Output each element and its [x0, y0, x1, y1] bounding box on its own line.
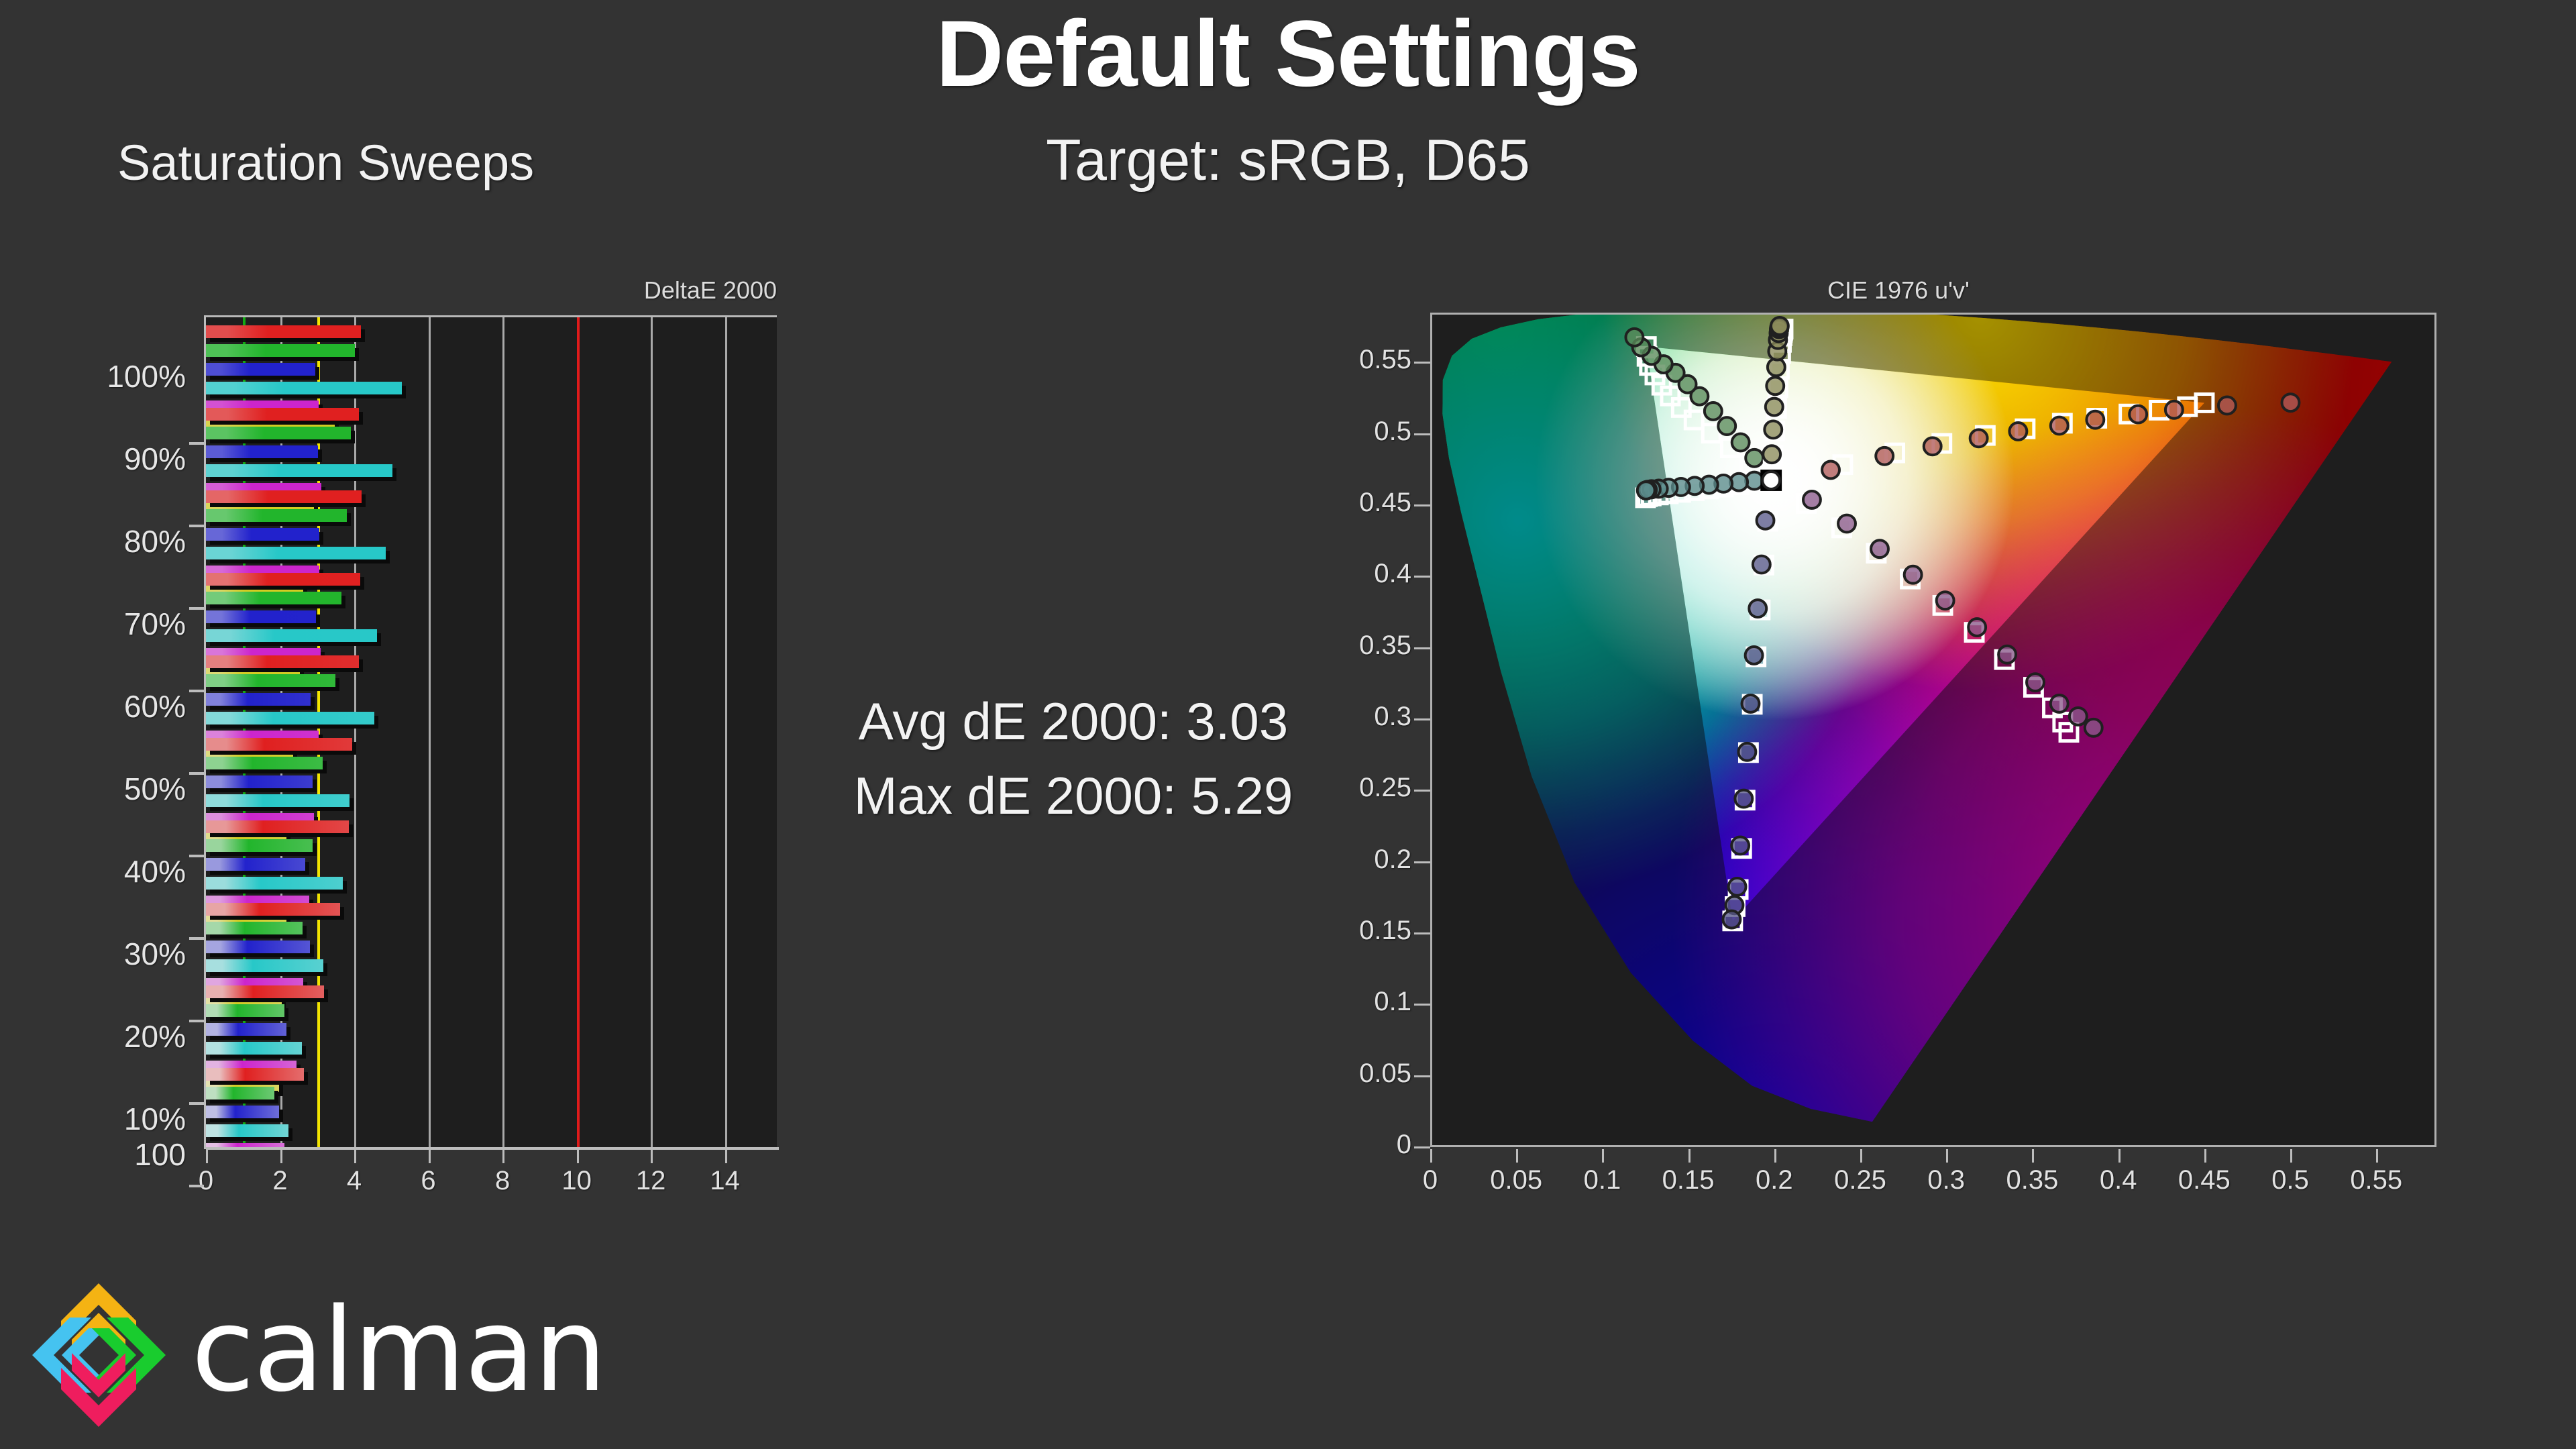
- deltae-bar: [206, 490, 362, 503]
- deltae-bar: [206, 464, 392, 477]
- cie-x-tick: [2118, 1149, 2121, 1163]
- deltae-x-tick-label: 14: [685, 1166, 765, 1196]
- deltae-x-tick: [429, 1150, 431, 1163]
- cie-y-tick-label: 0.4: [1355, 559, 1411, 589]
- deltae-bar: [206, 674, 335, 687]
- deltae-bar: [206, 509, 347, 522]
- deltae-y-tick-label-text: 90%: [0, 441, 186, 477]
- cie-measured-marker: [1757, 512, 1774, 529]
- deltae-x-tick: [725, 1150, 727, 1163]
- deltae-bar: [206, 959, 323, 972]
- cie-measured-marker: [1924, 437, 1941, 455]
- deltae-bar: [206, 858, 305, 871]
- cie-measured-marker: [1625, 329, 1643, 346]
- calman-logo: calman: [27, 1278, 684, 1432]
- cie-measured-marker: [1904, 566, 1922, 584]
- deltae-gridline: [354, 317, 356, 1147]
- deltae-bar: [206, 757, 323, 769]
- cie-y-tick-label: 0.15: [1355, 916, 1411, 946]
- cie-chromaticity-svg: [1432, 315, 2434, 1145]
- deltae-x-axis-line: [206, 1147, 779, 1150]
- deltae-bar: [206, 877, 343, 890]
- deltae-y-tick-label: 100%: [0, 358, 186, 394]
- cie-plot-area: [1430, 313, 2436, 1147]
- deltae-bar: [206, 1023, 286, 1036]
- cie-x-tick: [2032, 1149, 2034, 1163]
- cie-y-tick: [1414, 1146, 1430, 1148]
- deltae-y-tick-label-text: 10%: [0, 1101, 186, 1137]
- cie-measured-marker: [1968, 619, 1986, 636]
- deltae-bar: [206, 820, 349, 833]
- cie-measured-marker: [1937, 592, 1954, 609]
- cie-y-tick-label: 0.2: [1355, 845, 1411, 875]
- deltae-x-tick-label: 4: [314, 1166, 394, 1196]
- deltae-bar: [206, 941, 310, 953]
- cie-y-tick-label: 0.1: [1355, 987, 1411, 1017]
- deltae-y-tick-label-text: 100: [0, 1136, 186, 1173]
- cie-x-tick: [1602, 1149, 1604, 1163]
- cie-measured-marker: [1822, 462, 1839, 479]
- cie-measured-marker: [2165, 401, 2183, 419]
- cie-y-tick-label: 0.3: [1355, 702, 1411, 732]
- deltae-y-tick-label: 90%: [0, 441, 186, 477]
- deltae-bar: [206, 1087, 274, 1099]
- avg-de-value: Avg dE 2000: 3.03: [792, 684, 1355, 759]
- cie-measured-marker: [1735, 790, 1752, 808]
- deltae-bar: [206, 693, 311, 706]
- cie-y-tick: [1414, 576, 1430, 578]
- cie-chart-panel: CIE 1976 u'v' 00.050.10.150.20.250.30.35…: [1355, 268, 2509, 1248]
- cie-measured-marker: [1871, 540, 1888, 557]
- cie-measured-marker: [1803, 491, 1821, 508]
- cie-y-tick: [1414, 647, 1430, 649]
- cie-measured-marker: [1705, 402, 1722, 420]
- cie-x-tick: [1860, 1149, 1862, 1163]
- calman-diamond-icon: [27, 1278, 171, 1432]
- deltae-bar: [206, 427, 351, 439]
- deltae-y-tick-label: 20%: [0, 1018, 186, 1055]
- deltae-y-tick: [189, 772, 204, 775]
- cie-x-tick: [2290, 1149, 2292, 1163]
- cie-measured-marker: [1718, 417, 1735, 435]
- cie-measured-marker: [2051, 417, 2068, 435]
- deltae-x-tick: [354, 1150, 356, 1163]
- deltae-bar: [206, 325, 361, 338]
- cie-y-tick: [1414, 362, 1430, 364]
- deltae-bar: [206, 712, 374, 724]
- deltae-bar: [206, 344, 355, 357]
- deltae-y-tick-label-text: 60%: [0, 688, 186, 724]
- deltae-bar: [206, 445, 318, 458]
- cie-y-tick-label: 0.35: [1355, 631, 1411, 661]
- deltae-x-tick-label: 12: [610, 1166, 691, 1196]
- deltae-y-tick-label: 60%: [0, 688, 186, 724]
- cie-y-tick: [1414, 718, 1430, 720]
- page-title: Default Settings: [0, 7, 2576, 101]
- deltae-bar: [206, 985, 324, 998]
- calman-wordmark: calman: [191, 1293, 606, 1408]
- cie-x-tick: [1516, 1149, 1518, 1163]
- cie-measured-marker: [1771, 317, 1788, 335]
- cie-y-tick-label: 0.5: [1355, 417, 1411, 447]
- cie-measured-marker: [2070, 708, 2087, 725]
- cie-y-tick-label: 0.55: [1355, 345, 1411, 375]
- cie-measured-marker: [1749, 600, 1766, 617]
- deltae-y-tick: [189, 607, 204, 610]
- deltae-y-tick-label: 10%: [0, 1101, 186, 1137]
- cie-x-tick-label: 0.55: [2322, 1165, 2430, 1195]
- deltae-bar: [206, 363, 315, 376]
- deltae-chart-title: DeltaE 2000: [644, 276, 777, 305]
- deltae-x-tick: [502, 1150, 504, 1163]
- deltae-gridline: [651, 317, 653, 1147]
- cie-measured-marker: [2282, 394, 2300, 411]
- deltae-y-tick-label-text: 100%: [0, 358, 186, 394]
- cie-measured-marker: [2129, 406, 2147, 423]
- cie-y-tick-label: 0.25: [1355, 773, 1411, 803]
- cie-y-tick: [1414, 1004, 1430, 1006]
- deltae-y-tick-label: 80%: [0, 523, 186, 559]
- deltae-bar: [206, 1004, 284, 1017]
- deltae-y-tick: [189, 690, 204, 692]
- cie-whitepoint-measured: [1762, 472, 1780, 489]
- cie-measured-marker: [1746, 449, 1763, 467]
- cie-x-tick: [2376, 1149, 2378, 1163]
- deltae-bar: [206, 1106, 279, 1118]
- deltae-bar: [206, 629, 377, 642]
- deltae-bar: [206, 903, 340, 916]
- cie-measured-marker: [1876, 447, 1893, 465]
- deltae-y-tick: [189, 442, 204, 445]
- cie-measured-marker: [1738, 743, 1756, 761]
- deltae-x-tick: [651, 1150, 653, 1163]
- deltae-bar: [206, 1068, 304, 1081]
- cie-x-tick: [1774, 1149, 1776, 1163]
- cie-measured-marker: [1746, 647, 1763, 664]
- cie-y-tick: [1414, 790, 1430, 792]
- cie-measured-marker: [1970, 429, 1988, 447]
- cie-measured-marker: [1763, 445, 1780, 463]
- deltae-bar: [206, 592, 341, 604]
- deltae-bar: [206, 547, 386, 559]
- cie-measured-marker: [2027, 674, 2044, 691]
- cie-y-tick: [1414, 504, 1430, 506]
- deltae-bar: [206, 528, 319, 541]
- deltae-y-tick-label-text: 20%: [0, 1018, 186, 1055]
- deltae-plot-area: [206, 315, 777, 1147]
- cie-y-tick-label: 0.45: [1355, 488, 1411, 518]
- deltae-bar: [206, 382, 402, 394]
- cie-y-tick: [1414, 861, 1430, 863]
- deltae-x-tick-label: 6: [388, 1166, 469, 1196]
- deltae-x-tick: [280, 1150, 282, 1163]
- deltae-bar: [206, 922, 303, 934]
- deltae-bar: [206, 738, 352, 751]
- deltae-x-tick: [577, 1150, 579, 1163]
- deltae-y-tick-label: 40%: [0, 853, 186, 890]
- cie-y-tick: [1414, 932, 1430, 934]
- deltae-y-tick: [189, 525, 204, 527]
- cie-x-tick: [1688, 1149, 1690, 1163]
- cie-measured-marker: [2086, 411, 2104, 429]
- deltae-gridline: [429, 317, 431, 1147]
- deltae-bar: [206, 1042, 302, 1055]
- cie-measured-marker: [1766, 398, 1783, 416]
- deltae-y-tick: [189, 1102, 204, 1105]
- cie-measured-marker: [1753, 556, 1770, 574]
- deltae-y-tick-label-text: 30%: [0, 936, 186, 972]
- cie-measured-marker: [1742, 695, 1760, 712]
- cie-chart-title: CIE 1976 u'v': [1355, 276, 2442, 305]
- deltae-chart-panel: DeltaE 2000 02468101214100%90%80%70%60%5…: [0, 268, 839, 1248]
- cie-measured-marker: [1998, 646, 2016, 663]
- deltae-x-tick-label: 2: [240, 1166, 321, 1196]
- deltae-y-tick-label-text: 40%: [0, 853, 186, 890]
- cie-measured-marker: [1764, 421, 1782, 438]
- deltae-y-tick-label: 70%: [0, 606, 186, 642]
- deltae-y-tick: [189, 1020, 204, 1022]
- deltae-bar: [206, 1124, 288, 1137]
- cie-measured-marker: [1638, 482, 1655, 499]
- deltae-y-tick: [189, 855, 204, 857]
- deltae-y-tick-label: 30%: [0, 936, 186, 972]
- deltae-y-tick: [189, 937, 204, 940]
- deltae-bar: [206, 610, 316, 623]
- deltae-x-tick: [206, 1150, 208, 1163]
- deltae-bar: [206, 839, 313, 852]
- cie-measured-marker: [2218, 397, 2236, 415]
- cie-measured-marker: [1723, 911, 1740, 928]
- summary-block: Avg dE 2000: 3.03 Max dE 2000: 5.29: [792, 684, 1355, 833]
- cie-y-tick-label: 0.05: [1355, 1059, 1411, 1089]
- deltae-x-tick-label: 8: [462, 1166, 543, 1196]
- deltae-reference-line: [577, 317, 580, 1147]
- max-de-value: Max dE 2000: 5.29: [792, 759, 1355, 833]
- deltae-gridline: [502, 317, 504, 1147]
- deltae-bar: [206, 408, 359, 421]
- deltae-y-tick-label-text: 70%: [0, 606, 186, 642]
- deltae-gridline: [725, 317, 727, 1147]
- cie-y-tick: [1414, 433, 1430, 435]
- deltae-y-tick-label: 50%: [0, 771, 186, 807]
- cie-measured-marker: [1838, 515, 1856, 533]
- deltae-y-tick-label-text: 50%: [0, 771, 186, 807]
- deltae-bar: [206, 794, 350, 807]
- deltae-bar: [206, 655, 359, 668]
- cie-measured-marker: [2009, 423, 2027, 440]
- deltae-x-tick-label: 10: [537, 1166, 617, 1196]
- deltae-y-tick: [189, 1185, 204, 1187]
- cie-measured-marker: [1766, 377, 1784, 394]
- cie-measured-marker: [1732, 434, 1750, 451]
- deltae-bar: [206, 573, 360, 586]
- cie-y-tick-label: 0: [1355, 1130, 1411, 1160]
- cie-measured-marker: [2085, 719, 2102, 737]
- cie-y-tick: [1414, 1075, 1430, 1077]
- deltae-y-tick-label: 100: [0, 1136, 186, 1173]
- cie-x-tick: [1430, 1149, 1432, 1163]
- section-heading: Saturation Sweeps: [117, 134, 534, 191]
- cie-measured-marker: [2051, 695, 2068, 712]
- cie-x-tick: [2204, 1149, 2206, 1163]
- cie-measured-marker: [1729, 878, 1746, 896]
- deltae-y-tick-label-text: 80%: [0, 523, 186, 559]
- cie-x-tick: [1946, 1149, 1948, 1163]
- deltae-bar: [206, 775, 313, 788]
- cie-measured-marker: [1731, 837, 1749, 855]
